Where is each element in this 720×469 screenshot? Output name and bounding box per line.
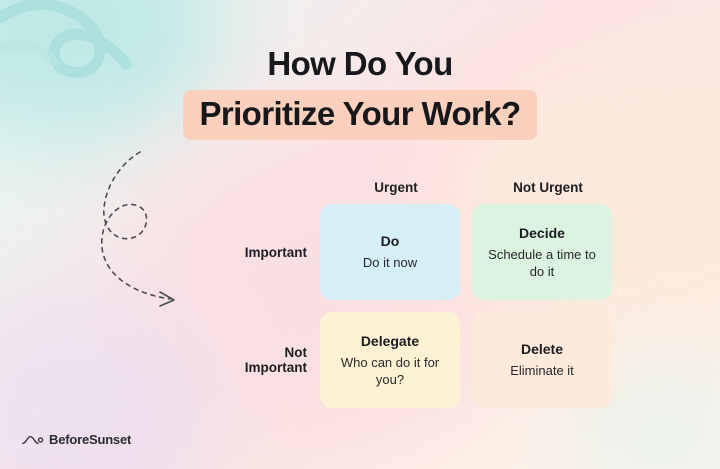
cell-desc-decide: Schedule a time to do it — [484, 246, 600, 280]
eisenhower-matrix: Urgent Not Urgent Important Do Do it now… — [222, 180, 642, 420]
brand-logo-text: BeforeSunset — [49, 432, 131, 447]
cell-title-delete: Delete — [521, 341, 563, 357]
cell-title-decide: Decide — [519, 225, 565, 241]
cell-desc-delete: Eliminate it — [510, 362, 574, 379]
cell-desc-do: Do it now — [363, 254, 417, 271]
brand-logo[interactable]: BeforeSunset — [22, 432, 131, 447]
cell-desc-delegate: Who can do it for you? — [332, 354, 448, 388]
matrix-cell-do[interactable]: Do Do it now — [320, 204, 460, 300]
title-line-2-holder: Prioritize Your Work? — [0, 90, 720, 140]
row-label-important: Important — [222, 245, 320, 260]
cell-title-delegate: Delegate — [361, 333, 419, 349]
matrix-cell-delete[interactable]: Delete Eliminate it — [472, 312, 612, 408]
matrix-cell-delegate[interactable]: Delegate Who can do it for you? — [320, 312, 460, 408]
row-label-not-important: Not Important — [222, 345, 320, 375]
matrix-column-headers: Urgent Not Urgent — [320, 180, 642, 204]
cell-title-do: Do — [381, 233, 400, 249]
poster-canvas: How Do You Prioritize Your Work? Urgent … — [0, 0, 720, 469]
sunset-line-icon — [22, 433, 44, 447]
matrix-row-important: Important Do Do it now Decide Schedule a… — [222, 204, 642, 300]
page-title: How Do You Prioritize Your Work? — [0, 44, 720, 140]
column-header-not-urgent: Not Urgent — [472, 180, 624, 204]
title-line-2: Prioritize Your Work? — [183, 90, 536, 140]
title-line-1: How Do You — [0, 44, 720, 84]
matrix-cell-decide[interactable]: Decide Schedule a time to do it — [472, 204, 612, 300]
column-header-urgent: Urgent — [320, 180, 472, 204]
dashed-loop-arrow-icon — [92, 150, 202, 315]
matrix-row-not-important: Not Important Delegate Who can do it for… — [222, 312, 642, 408]
